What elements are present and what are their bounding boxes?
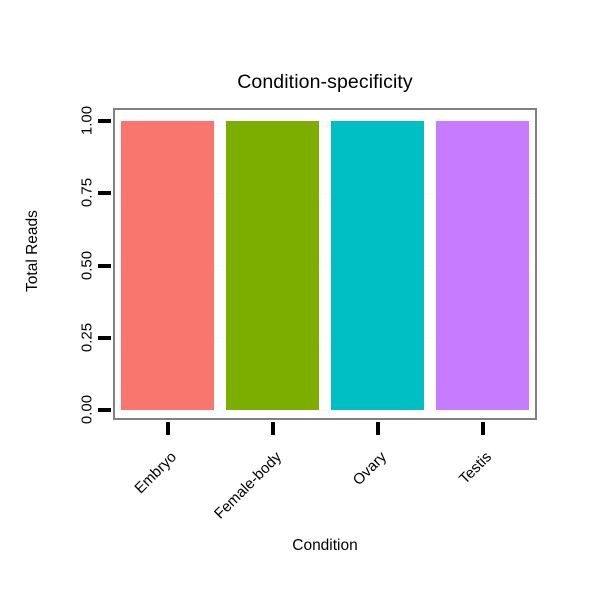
y-tick-label: 0.75 [79, 168, 96, 218]
bar-chart: Condition-specificity 0.000.250.500.751.… [0, 0, 600, 600]
y-tick [98, 119, 111, 123]
chart-title: Condition-specificity [0, 71, 600, 94]
bar-female-body [226, 121, 319, 410]
y-axis-title: Total Reads [24, 191, 42, 311]
x-tick [271, 422, 275, 435]
gridline [115, 410, 535, 411]
x-tick [376, 422, 380, 435]
plot-area [115, 110, 535, 418]
plot-panel [113, 108, 537, 420]
y-tick [98, 264, 111, 268]
y-tick-label: 0.25 [79, 312, 96, 362]
x-tick [481, 422, 485, 435]
y-tick [98, 336, 111, 340]
x-axis-title: Condition [0, 537, 600, 555]
bar-testis [436, 121, 529, 410]
y-tick-label: 0.00 [79, 385, 96, 435]
x-tick [166, 422, 170, 435]
y-tick-label: 1.00 [79, 96, 96, 146]
bar-embryo [121, 121, 214, 410]
y-tick [98, 191, 111, 195]
bar-ovary [331, 121, 424, 410]
y-tick-label: 0.50 [79, 240, 96, 290]
y-tick [98, 408, 111, 412]
